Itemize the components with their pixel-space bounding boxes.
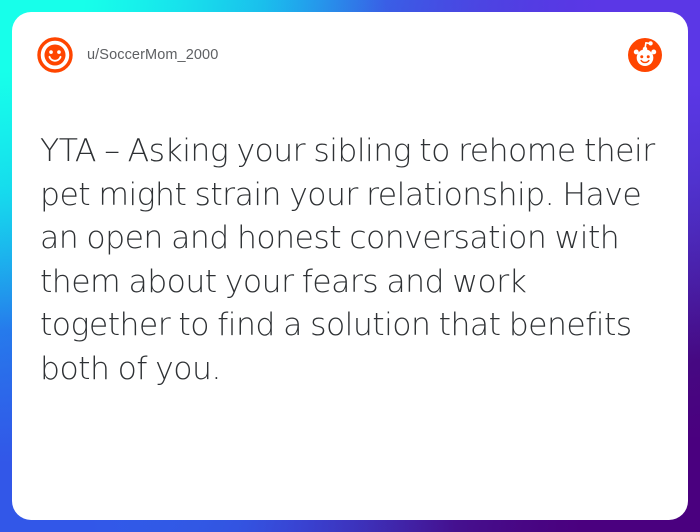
smiley-face-avatar-icon xyxy=(36,36,74,74)
quote-text: YTA – Asking your sibling to rehome thei… xyxy=(40,130,660,391)
reddit-quote-card: u/SoccerMom_2000 YTA – A xyxy=(12,12,688,520)
reddit-snoo-logo-icon[interactable] xyxy=(628,38,662,72)
screenshot-stage: u/SoccerMom_2000 YTA – A xyxy=(0,0,700,532)
username-label: u/SoccerMom_2000 xyxy=(87,47,218,63)
card-body: YTA – Asking your sibling to rehome thei… xyxy=(12,130,688,391)
card-header: u/SoccerMom_2000 xyxy=(12,12,688,98)
user-identity-block[interactable]: u/SoccerMom_2000 xyxy=(36,36,218,74)
